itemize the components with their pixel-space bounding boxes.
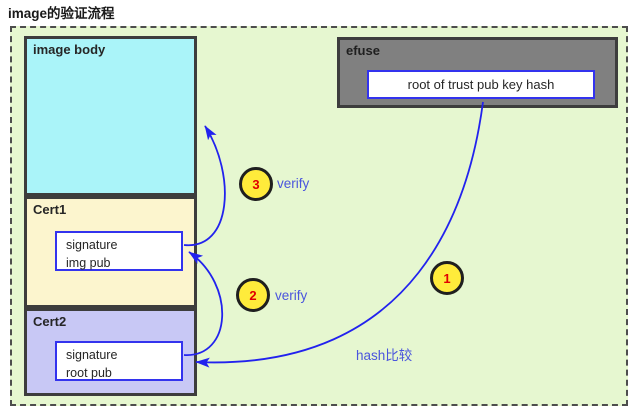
diagram-root: image的验证流程 image body Cert1 signature im… bbox=[0, 0, 636, 414]
page-title: image的验证流程 bbox=[8, 2, 115, 22]
cert2-signature-box: signature root pub bbox=[55, 341, 183, 381]
block-image-body: image body bbox=[24, 36, 197, 196]
annotation-hash-compare: hash比较 bbox=[356, 344, 412, 364]
annotation-verify-2: verify bbox=[275, 288, 307, 303]
block-image-body-label: image body bbox=[33, 42, 105, 57]
step-badge-2: 2 bbox=[236, 278, 270, 312]
step-badge-3: 3 bbox=[239, 167, 273, 201]
step-badge-1: 1 bbox=[430, 261, 464, 295]
block-efuse-label: efuse bbox=[346, 43, 380, 58]
block-cert2-label: Cert2 bbox=[33, 314, 66, 329]
efuse-root-of-trust-box: root of trust pub key hash bbox=[367, 70, 595, 99]
block-cert1-label: Cert1 bbox=[33, 202, 66, 217]
annotation-verify-3: verify bbox=[277, 176, 309, 191]
cert1-signature-box: signature img pub bbox=[55, 231, 183, 271]
